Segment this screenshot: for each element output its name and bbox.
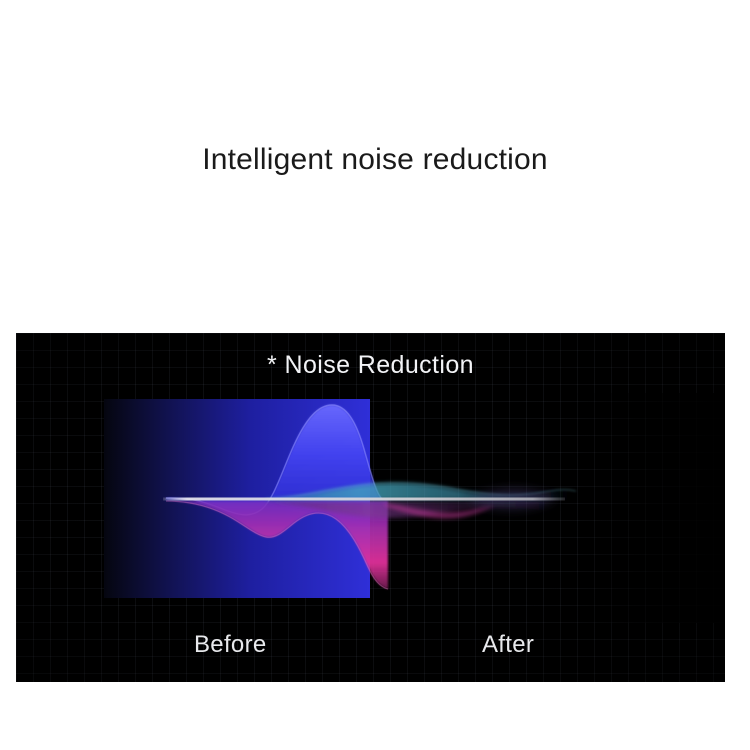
baseline-line [163, 498, 565, 501]
label-after: After [482, 631, 534, 659]
label-before: Before [194, 631, 267, 659]
noise-reduction-demo-panel: * Noise Reduction Before After [16, 333, 725, 682]
page-title: Intelligent noise reduction [0, 141, 750, 179]
right-fade-overlay [346, 393, 725, 623]
waveform-graphic [16, 333, 725, 682]
panel-title: * Noise Reduction [16, 351, 725, 380]
waveform-stage [16, 333, 725, 682]
